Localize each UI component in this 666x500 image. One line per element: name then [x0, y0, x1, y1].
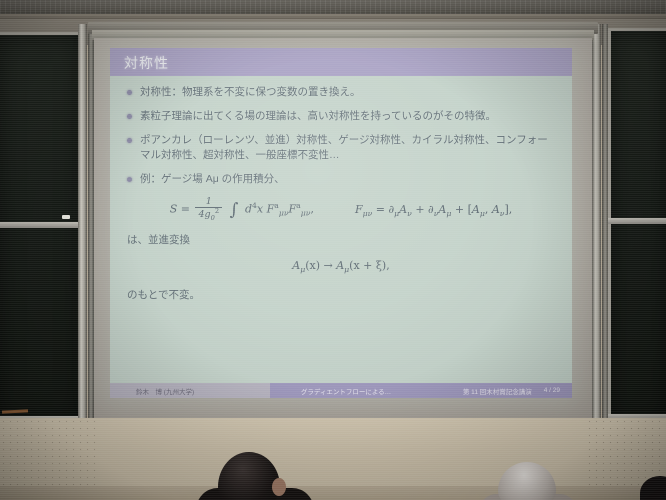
wall-mullion-right-inner	[602, 24, 608, 426]
equation-field-strength: Fμν = ∂μAν + ∂νAμ + [Aμ, Aν],	[355, 202, 512, 221]
tr-trailing-comma: ,	[386, 259, 390, 272]
footer-page-number: 4 / 29	[544, 387, 560, 394]
fs-field1-sub: ν	[407, 209, 412, 218]
wall-mullion-left-outer	[78, 24, 87, 426]
lecture-hall-photo: 対称性 対称性：物理系を不変に保つ変数の置き換え。 素粒子理論に出てくる場の理論…	[0, 0, 666, 500]
bullet-item: 素粒子理論に出てくる場の理論は、高い対称性を持っているのがその特徴。	[110, 109, 572, 124]
chalkboard-left-rail	[0, 222, 84, 228]
eq-measure-var: x	[257, 203, 263, 216]
bullet-dot-icon	[127, 90, 132, 95]
fs-lhs: F	[355, 203, 363, 216]
bullet-dot-icon	[127, 138, 132, 143]
bullet-dot-icon	[127, 177, 132, 182]
eq-field2-sub: μν	[301, 209, 311, 218]
bullet-text: ポアンカレ（ローレンツ、並進）対称性、ゲージ対称性、カイラル対称性、コンフォーマ…	[140, 133, 556, 163]
tr-arrow-icon: →	[324, 259, 333, 272]
equation-translation: Aμ(x) → Aμ(x + ξ),	[110, 258, 572, 277]
bullet-text: 素粒子理論に出てくる場の理論は、高い対称性を持っているのがその特徴。	[140, 109, 556, 124]
equation-action-lhs: S = 1 4g02 ∫ d4x FaμνFaμν,	[170, 197, 314, 222]
tr-rhs-field: A	[336, 259, 344, 272]
fs-plus-2: +	[455, 203, 464, 216]
bullet-text: 対称性：物理系を不変に保つ変数の置き換え。	[140, 85, 556, 100]
chalkboard-right-rail	[608, 218, 666, 224]
footer-talk-title: グラディエントフローによる…	[270, 383, 422, 398]
eq-fraction-denominator: 4g02	[195, 207, 222, 222]
tr-rhs-arg: (x + ξ)	[349, 259, 386, 272]
slide-body: 対称性：物理系を不変に保つ変数の置き換え。 素粒子理論に出てくる場の理論は、高い…	[110, 76, 572, 372]
text-closing: のもとで不変。	[110, 288, 572, 303]
fs-equals: =	[376, 203, 385, 216]
slide-footer: 鈴木 博 (九州大学) グラディエントフローによる… 第 11 回木村賞記念講演…	[110, 383, 572, 398]
slide-title: 対称性	[124, 53, 169, 73]
bullet-item: ポアンカレ（ローレンツ、並進）対称性、ゲージ対称性、カイラル対称性、コンフォーマ…	[110, 133, 572, 163]
footer-right-group: 第 11 回木村賞記念講演 4 / 29	[422, 383, 572, 398]
footer-event-name: 第 11 回木村賞記念講演	[463, 386, 532, 396]
attendee-left-ear	[272, 478, 286, 496]
eq-symbol-S: S	[170, 203, 178, 216]
fs-comm-comma: ,	[485, 203, 489, 216]
fs-trailing-comma: ,	[509, 203, 513, 216]
fs-commutator-a: A	[472, 203, 480, 216]
fs-commutator-b: A	[492, 203, 500, 216]
eq-fraction-numerator: 1	[195, 197, 222, 207]
eq-den-sub: 0	[211, 214, 215, 222]
bullet-item: 対称性：物理系を不変に保つ変数の置き換え。	[110, 85, 572, 100]
tr-lhs-arg: (x)	[305, 259, 320, 272]
eq-equals: =	[181, 203, 190, 216]
presentation-slide: 対称性 対称性：物理系を不変に保つ変数の置き換え。 素粒子理論に出てくる場の理論…	[110, 48, 572, 398]
fs-lhs-sub: μν	[363, 209, 373, 218]
integral-sign: ∫	[230, 200, 239, 220]
eq-den-base: 4g	[198, 209, 210, 220]
equation-action-integral: S = 1 4g02 ∫ d4x FaμνFaμν, Fμν = ∂μAν +	[110, 197, 572, 222]
eq-coupling-fraction: 1 4g02	[195, 197, 222, 222]
eq-field1-sub: μν	[279, 209, 289, 218]
footer-author: 鈴木 博 (九州大学)	[110, 383, 270, 398]
text-after-equation: は、並進変換	[110, 233, 572, 248]
slide-title-bar	[110, 48, 572, 76]
wall-mullion-right-outer	[592, 24, 601, 426]
bullet-text: 例：ゲージ場 Aμ の作用積分、	[140, 172, 556, 187]
eq-action-comma: ,	[310, 203, 314, 216]
chalkboard-left	[0, 32, 84, 424]
bullet-item: 例：ゲージ場 Aμ の作用積分、	[110, 172, 572, 187]
eq-measure: d	[245, 203, 252, 216]
bullet-dot-icon	[127, 114, 132, 119]
chalkboard-right	[608, 28, 666, 424]
fs-field2-sub: μ	[446, 209, 451, 218]
fs-plus-1: +	[415, 203, 424, 216]
tr-lhs-field: A	[292, 259, 300, 272]
eq-den-sup: 2	[215, 207, 219, 215]
chalk-piece	[62, 215, 70, 219]
fs-field-1: A	[399, 203, 407, 216]
